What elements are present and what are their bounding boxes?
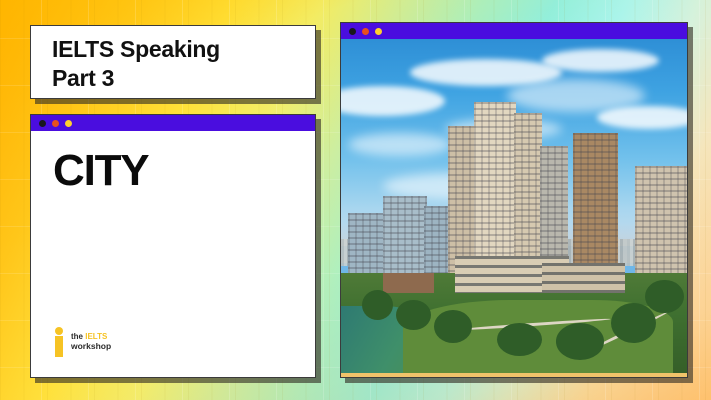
tree (434, 310, 472, 343)
cloud (348, 133, 452, 156)
window-minimize-dot-icon[interactable] (362, 28, 369, 35)
tree (396, 300, 431, 330)
tree (645, 280, 683, 313)
tree (497, 323, 542, 356)
tree (611, 303, 656, 343)
brand-logo-text: the IELTS workshop (71, 333, 111, 350)
window-minimize-dot-icon[interactable] (52, 120, 59, 127)
window-maximize-dot-icon[interactable] (375, 28, 382, 35)
window-close-dot-icon[interactable] (39, 120, 46, 127)
brand-logo-the: the (71, 332, 85, 341)
brand-logo: the IELTS workshop (53, 327, 111, 357)
window-close-dot-icon[interactable] (349, 28, 356, 35)
topic-card-titlebar (31, 115, 315, 131)
podium-building (542, 263, 625, 293)
page-title: IELTS Speaking Part 3 (52, 35, 315, 92)
topic-label: CITY (53, 149, 315, 193)
brand-logo-ielts: IELTS (85, 332, 107, 341)
tree (362, 290, 393, 320)
brand-logo-line2: workshop (71, 342, 111, 351)
photo-card-titlebar (341, 23, 687, 39)
photo-card (340, 22, 688, 378)
topic-card: CITY the IELTS workshop (30, 114, 316, 378)
city-highrise-photo (341, 39, 687, 373)
tree (556, 323, 604, 360)
low-building (383, 273, 435, 293)
heading-card: IELTS Speaking Part 3 (30, 25, 316, 99)
heading-card-body: IELTS Speaking Part 3 (31, 26, 315, 92)
photo-bottom-strip (341, 373, 687, 377)
topic-card-body: CITY the IELTS workshop (31, 131, 315, 377)
window-maximize-dot-icon[interactable] (65, 120, 72, 127)
i-logo-icon (53, 327, 66, 357)
